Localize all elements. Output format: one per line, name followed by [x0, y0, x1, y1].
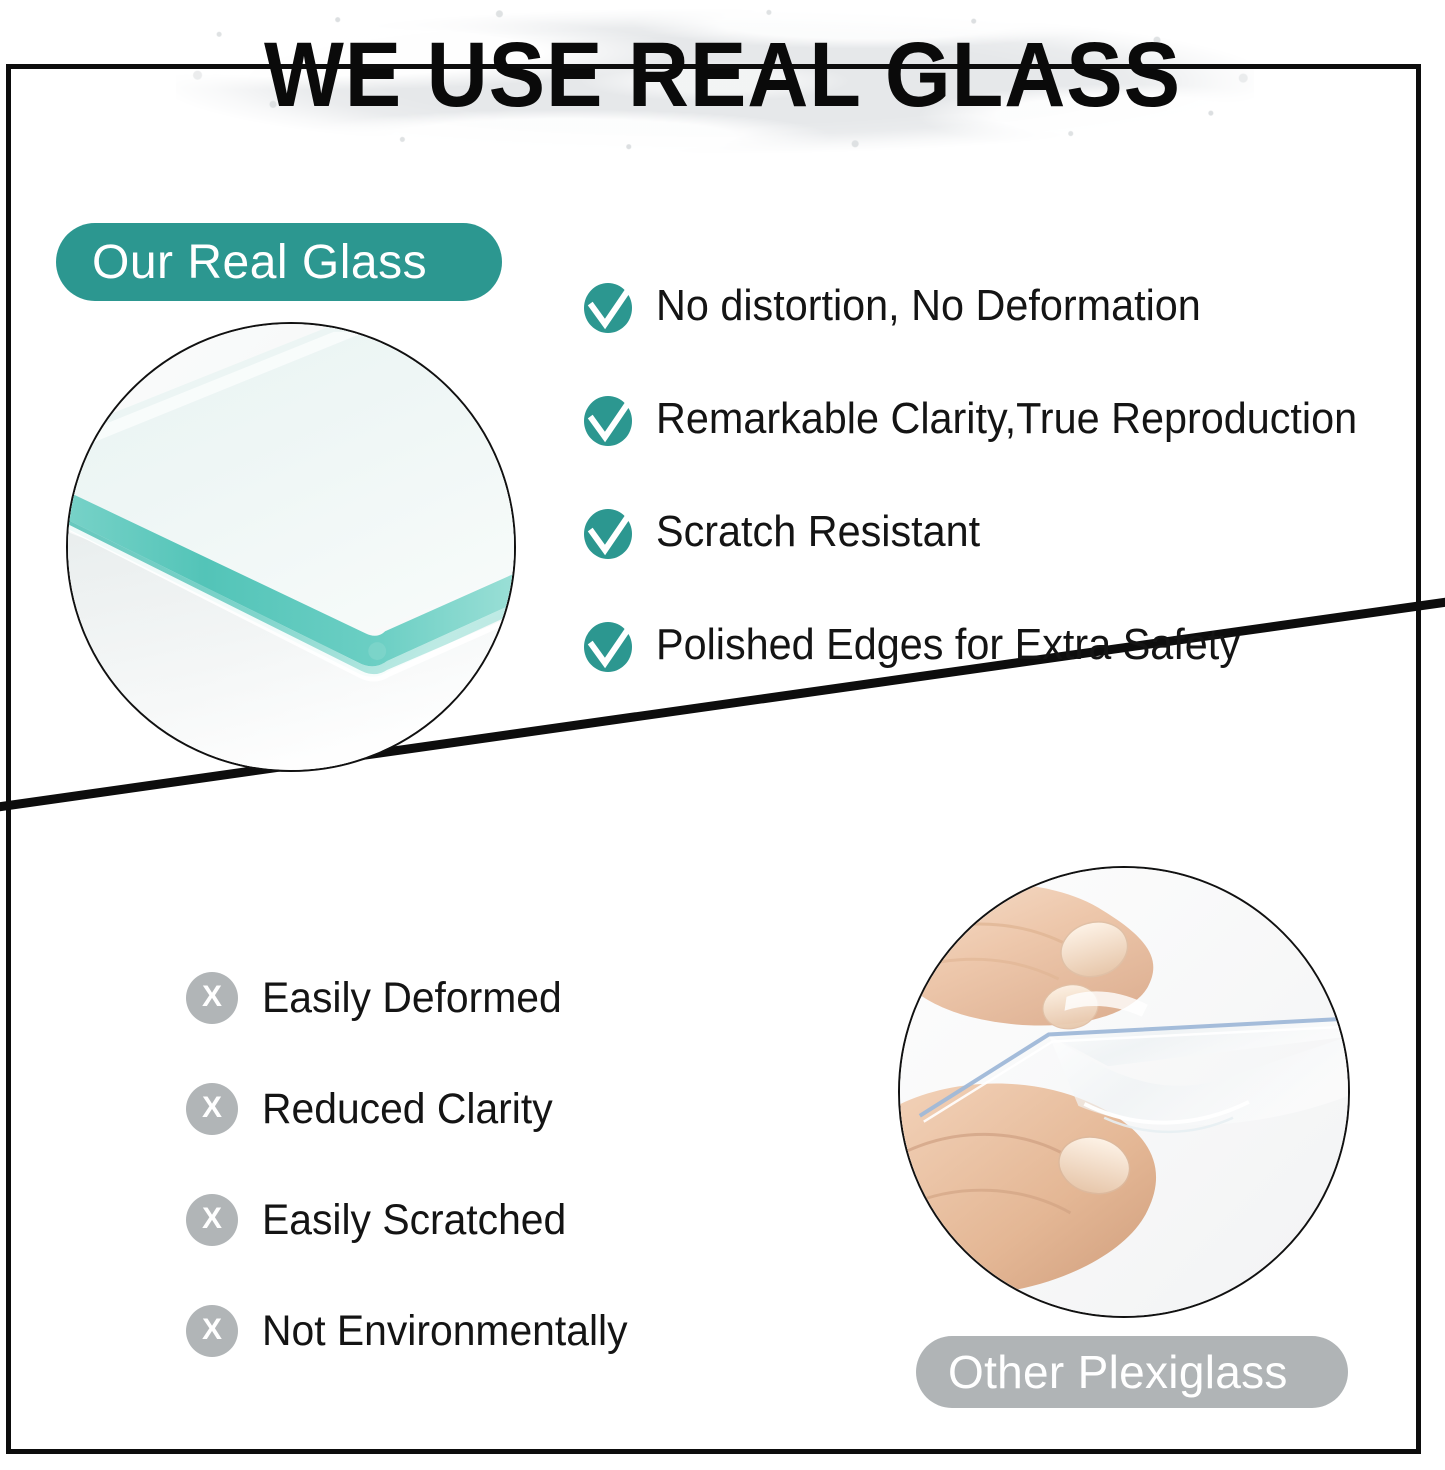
x-glyph: X — [202, 1204, 222, 1234]
check-circle-glyph — [582, 616, 638, 674]
badge-other-plexiglass-label: Other Plexiglass — [948, 1345, 1288, 1399]
list-item-label: Not Environmentally — [262, 1310, 628, 1353]
x-circle-icon: X — [186, 1305, 238, 1357]
check-circle-icon — [582, 616, 638, 674]
list-item-label: Reduced Clarity — [262, 1088, 553, 1131]
real-glass-photo — [66, 322, 516, 772]
list-item: X Not Environmentally — [186, 1305, 806, 1357]
plexiglass-illustration — [900, 868, 1348, 1316]
list-item-label: No distortion, No Deformation — [656, 284, 1201, 328]
real-glass-illustration — [68, 324, 514, 770]
list-item: No distortion, No Deformation — [582, 277, 1432, 335]
list-item-label: Scratch Resistant — [656, 510, 980, 554]
x-glyph: X — [202, 1093, 222, 1123]
badge-our-real-glass: Our Real Glass — [56, 223, 502, 301]
comparison-poster: WE USE REAL GLASS Our Real Glass — [0, 0, 1445, 1470]
list-item-label: Remarkable Clarity,True Reproduction — [656, 397, 1357, 441]
list-item: X Easily Deformed — [186, 972, 806, 1024]
list-item: Remarkable Clarity,True Reproduction — [582, 390, 1432, 448]
check-circle-glyph — [582, 503, 638, 561]
list-item-label: Polished Edges for Extra Safety — [656, 623, 1240, 667]
x-glyph: X — [202, 1315, 222, 1345]
pros-list: No distortion, No Deformation Remarkable… — [582, 277, 1432, 674]
badge-our-real-glass-label: Our Real Glass — [92, 235, 427, 290]
list-item-label: Easily Deformed — [262, 977, 562, 1020]
check-circle-icon — [582, 503, 638, 561]
x-circle-icon: X — [186, 1194, 238, 1246]
list-item-label: Easily Scratched — [262, 1199, 566, 1242]
x-circle-icon: X — [186, 1083, 238, 1135]
check-circle-icon — [582, 277, 638, 335]
x-glyph: X — [202, 982, 222, 1012]
check-circle-glyph — [582, 277, 638, 335]
list-item: Scratch Resistant — [582, 503, 1432, 561]
x-circle-icon: X — [186, 972, 238, 1024]
plexiglass-photo — [898, 866, 1350, 1318]
list-item: X Easily Scratched — [186, 1194, 806, 1246]
check-circle-glyph — [582, 390, 638, 448]
list-item: X Reduced Clarity — [186, 1083, 806, 1135]
list-item: Polished Edges for Extra Safety — [582, 616, 1432, 674]
page-title: WE USE REAL GLASS — [58, 0, 1387, 150]
badge-other-plexiglass: Other Plexiglass — [916, 1336, 1348, 1408]
cons-list: X Easily Deformed X Reduced Clarity X Ea… — [186, 972, 806, 1357]
check-circle-icon — [582, 390, 638, 448]
